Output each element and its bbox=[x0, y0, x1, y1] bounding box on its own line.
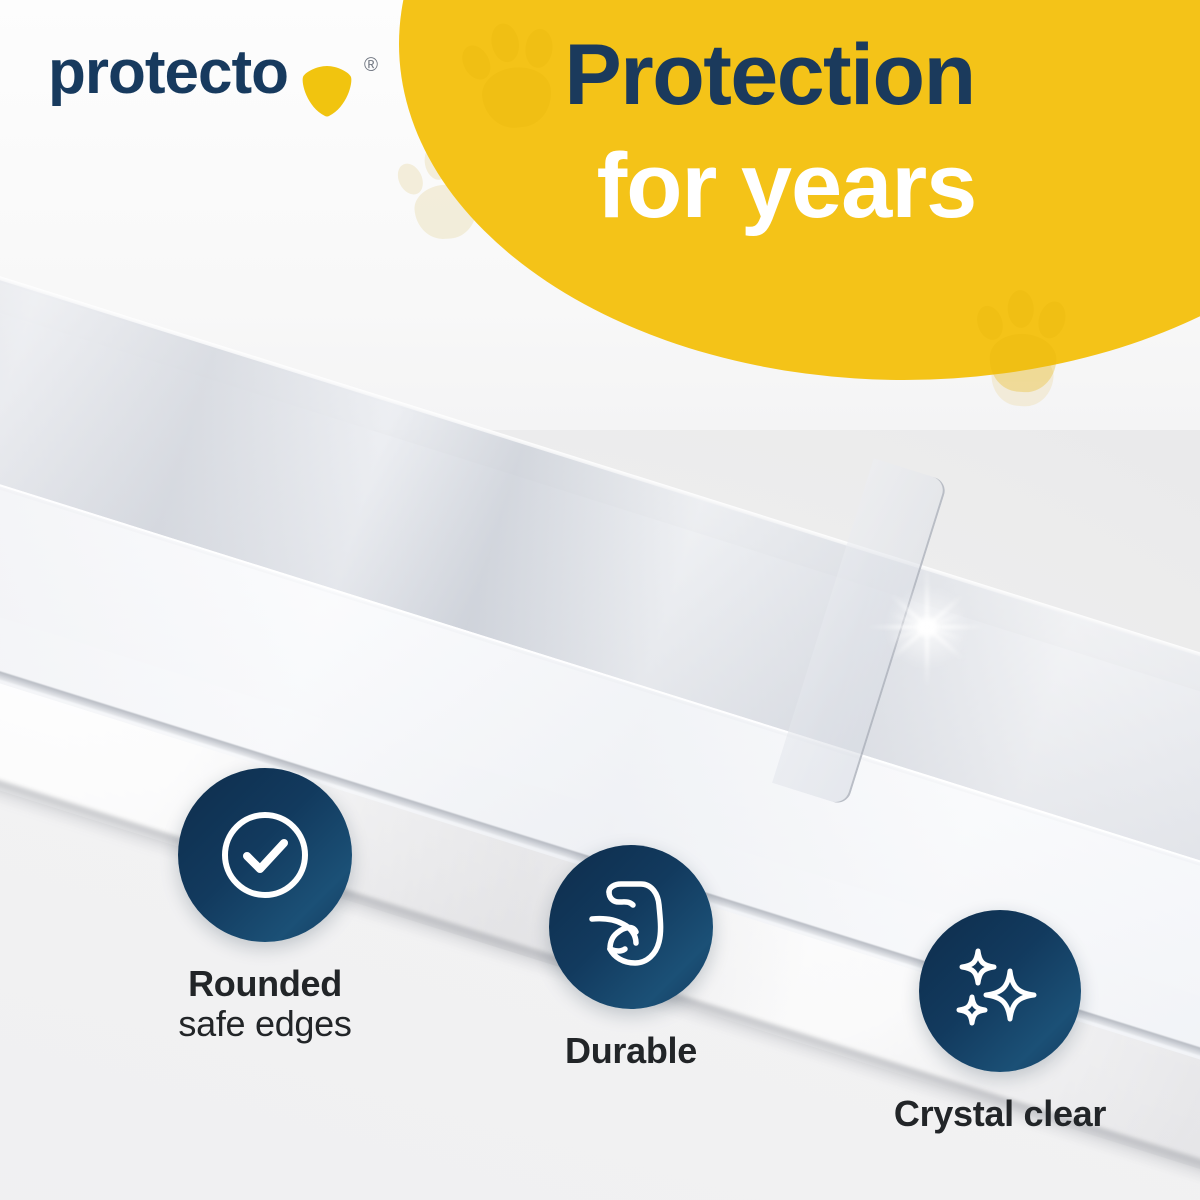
shield-icon bbox=[299, 63, 355, 119]
feature-label-strong: Rounded bbox=[88, 964, 442, 1004]
feature-label: Durable bbox=[455, 1031, 807, 1071]
headline-line-1: Protection bbox=[399, 32, 1140, 118]
feature-label: Rounded safe edges bbox=[88, 964, 442, 1045]
feature-label-strong: Durable bbox=[455, 1031, 807, 1071]
feature-label: Crystal clear bbox=[808, 1094, 1192, 1134]
feature-icon-badge bbox=[178, 768, 352, 942]
feature-durable: Durable bbox=[455, 845, 807, 1071]
registered-trademark-mark: ® bbox=[364, 56, 378, 75]
brand-logo-wordmark: protecto bbox=[48, 42, 288, 104]
feature-rounded-safe-edges: Rounded safe edges bbox=[88, 768, 442, 1045]
feature-label-light: safe edges bbox=[88, 1004, 442, 1044]
sparkles-icon bbox=[948, 939, 1052, 1043]
feature-crystal-clear: Crystal clear bbox=[808, 910, 1192, 1134]
feature-icon-badge bbox=[549, 845, 713, 1009]
check-circle-icon bbox=[213, 803, 317, 907]
feature-label-strong: Crystal clear bbox=[808, 1094, 1192, 1134]
headline-group: Protection for years bbox=[399, 0, 1200, 380]
brand-logo[interactable]: protecto ® bbox=[48, 42, 368, 116]
flexed-bicep-icon bbox=[579, 875, 683, 979]
product-marketing-image: Protection for years protecto ® Rounded … bbox=[0, 0, 1200, 1200]
feature-icon-badge bbox=[919, 910, 1081, 1072]
headline-line-2: for years bbox=[399, 140, 1174, 232]
